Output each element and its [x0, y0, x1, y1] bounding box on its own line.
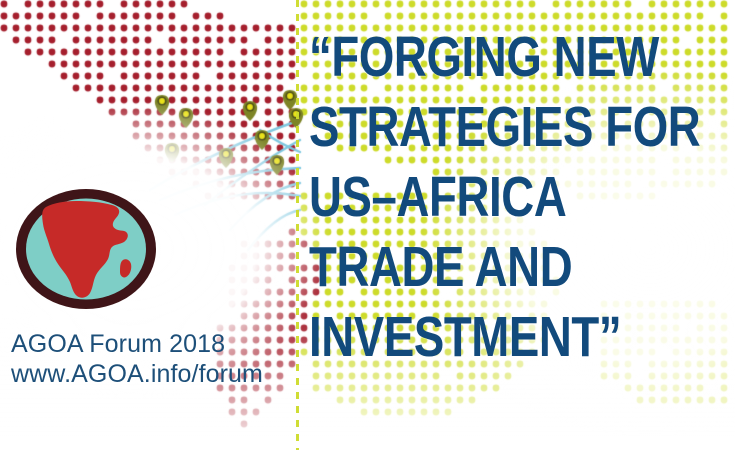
headline-line-5: INVESTMENT”: [309, 302, 653, 372]
headline-line-2: STRATEGIES FOR: [309, 92, 653, 162]
vertical-dashed-divider: [296, 0, 299, 450]
agoa-globe-logo: [13, 186, 159, 312]
forum-url-label: www.AGOA.info/forum: [11, 360, 296, 390]
headline-quote: “FORGING NEW STRATEGIES FOR US–AFRICA TR…: [309, 22, 653, 372]
headline-line-4: TRADE AND: [309, 232, 653, 302]
globe-africa-icon: [13, 186, 159, 312]
logo-caption: AGOA Forum 2018 www.AGOA.info/forum: [11, 330, 296, 389]
headline-line-1: “FORGING NEW: [309, 22, 653, 92]
forum-name-label: AGOA Forum 2018: [11, 330, 296, 360]
headline-line-3: US–AFRICA: [309, 162, 653, 232]
agoa-forum-banner: AGOA Forum 2018 www.AGOA.info/forum “FOR…: [0, 0, 735, 450]
